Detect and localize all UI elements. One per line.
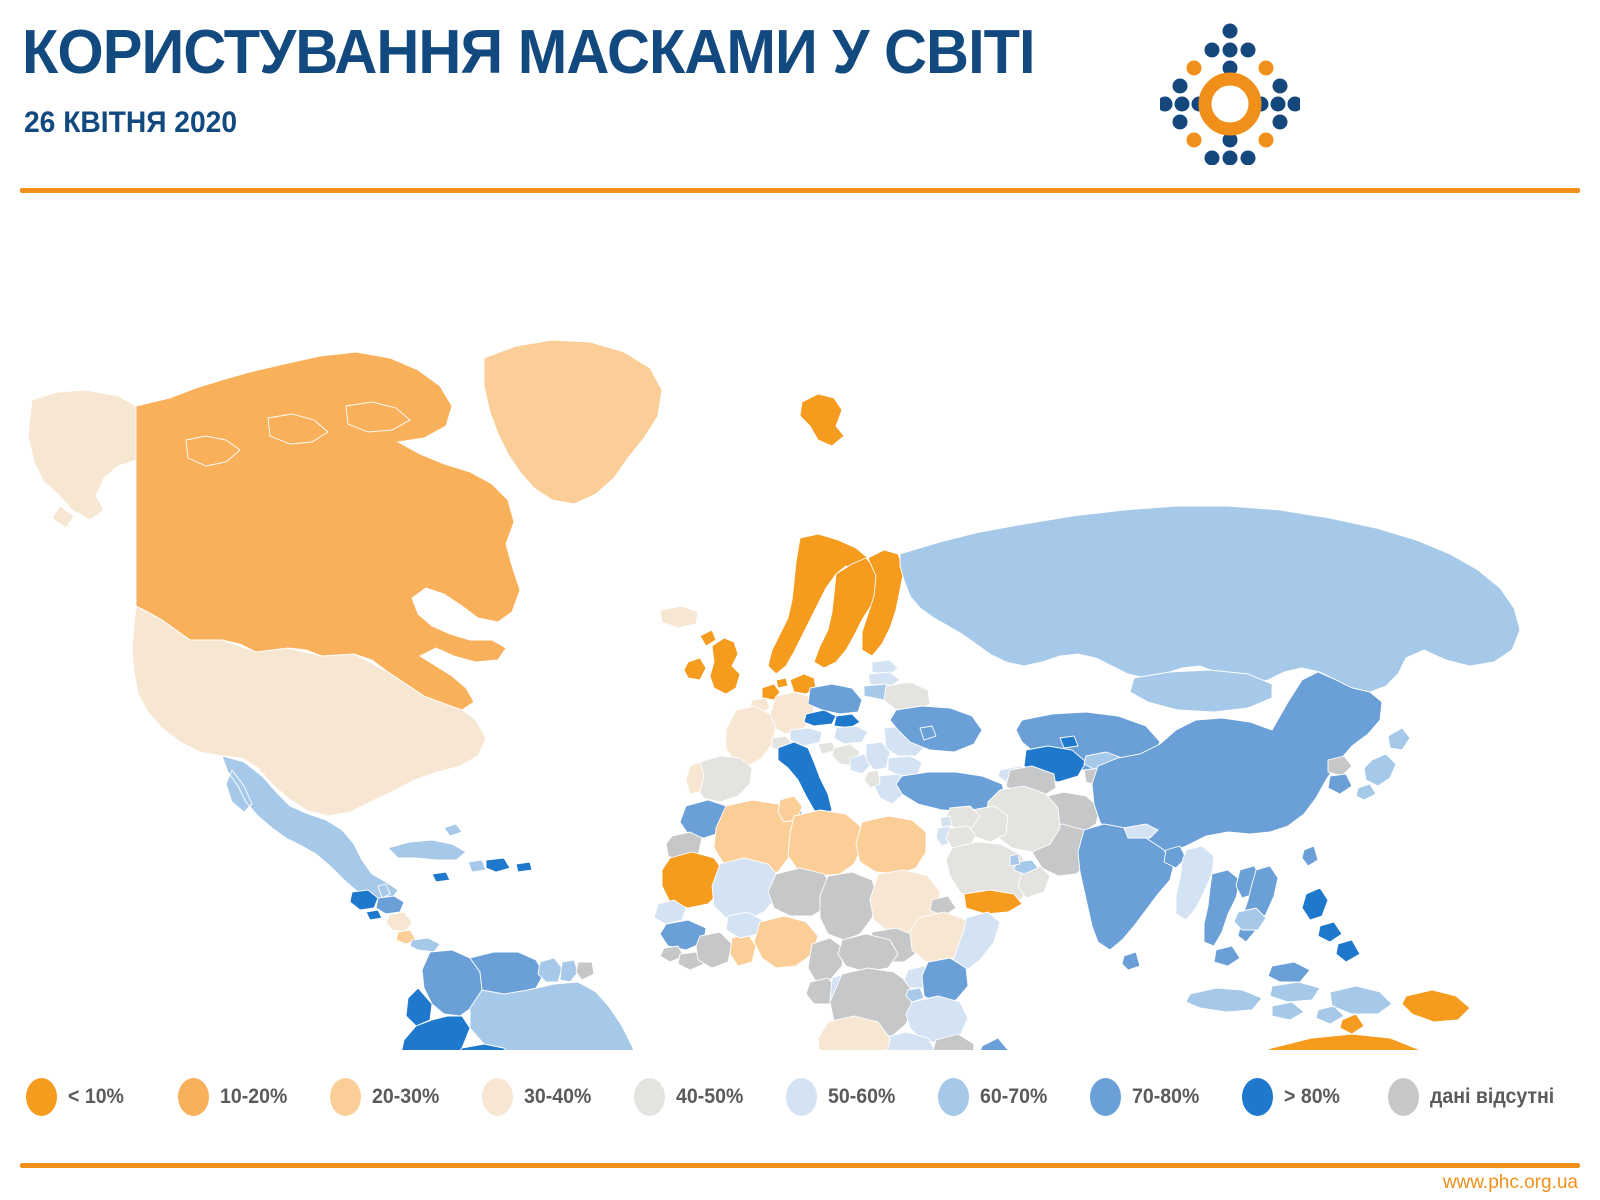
legend-swatch xyxy=(938,1078,969,1116)
country-united-kingdom[interactable] xyxy=(700,630,740,694)
legend-label: 60-70% xyxy=(980,1085,1047,1109)
country-alaska[interactable] xyxy=(28,390,136,528)
country-russia[interactable] xyxy=(900,506,1520,692)
country-svalbard[interactable] xyxy=(800,394,844,446)
footer-divider-rule xyxy=(20,1163,1580,1168)
legend-label: дані відсутні xyxy=(1430,1085,1554,1109)
footer-url[interactable]: www.phc.org.ua xyxy=(1443,1172,1578,1194)
legend-label: < 10% xyxy=(68,1085,124,1109)
phc-logo: ЦЕНТР ГРОМАДСЬКОГО ЗДОРОВ’Я xyxy=(1160,20,1590,170)
country-ghana[interactable] xyxy=(730,934,756,966)
country-kenya[interactable] xyxy=(922,958,968,1004)
legend-label: 40-50% xyxy=(676,1085,743,1109)
legend-item[interactable]: 50-60% xyxy=(786,1072,900,1122)
country-iceland[interactable] xyxy=(660,606,698,628)
world-map-svg xyxy=(0,210,1600,1050)
country-north-korea[interactable] xyxy=(1328,756,1352,776)
country-haiti[interactable] xyxy=(468,860,486,872)
country-papua-new-guinea[interactable] xyxy=(1402,990,1470,1022)
country-nigeria[interactable] xyxy=(754,916,818,968)
legend-label: 50-60% xyxy=(828,1085,895,1109)
country-albania[interactable] xyxy=(864,770,880,788)
country-nicaragua[interactable] xyxy=(386,912,412,932)
legend-label: 10-20% xyxy=(220,1085,287,1109)
legend-swatch xyxy=(1388,1078,1419,1116)
page-title: КОРИСТУВАННЯ МАСКАМИ У СВІТІ xyxy=(22,22,1035,84)
country-sri-lanka[interactable] xyxy=(1122,952,1140,970)
legend-swatch xyxy=(26,1078,57,1116)
country-japan[interactable] xyxy=(1356,728,1410,800)
legend-label: 20-30% xyxy=(372,1085,439,1109)
country-hungary[interactable] xyxy=(834,726,868,744)
legend-item[interactable]: 20-30% xyxy=(330,1072,444,1122)
legend-label: 30-40% xyxy=(524,1085,591,1109)
country-yemen[interactable] xyxy=(964,890,1022,914)
legend-swatch xyxy=(482,1078,513,1116)
header-divider-rule xyxy=(20,188,1580,193)
country-ireland[interactable] xyxy=(684,658,706,680)
country-indonesia[interactable] xyxy=(1186,982,1392,1024)
country-mongolia[interactable] xyxy=(1130,670,1272,712)
country-south-korea[interactable] xyxy=(1328,774,1352,794)
country-philippines[interactable] xyxy=(1302,888,1360,962)
logo-dot-diamond-icon xyxy=(1160,20,1300,165)
legend-item[interactable]: 30-40% xyxy=(482,1072,596,1122)
country-panama[interactable] xyxy=(410,938,440,952)
legend-item[interactable]: 40-50% xyxy=(634,1072,748,1122)
legend-item[interactable]: дані відсутні xyxy=(1388,1072,1564,1122)
country-poland[interactable] xyxy=(808,684,862,714)
country-honduras[interactable] xyxy=(376,896,404,914)
page-subtitle-date: 26 КВІТНЯ 2020 xyxy=(24,108,237,138)
legend-item[interactable]: 60-70% xyxy=(938,1072,1052,1122)
country-el-salvador[interactable] xyxy=(366,910,382,920)
country-cuba[interactable] xyxy=(388,840,466,860)
legend-swatch xyxy=(178,1078,209,1116)
country-dominican-republic[interactable] xyxy=(486,858,510,872)
country-libya[interactable] xyxy=(788,810,862,876)
legend-item[interactable]: 70-80% xyxy=(1090,1072,1204,1122)
legend-item[interactable]: > 80% xyxy=(1242,1072,1344,1122)
country-egypt[interactable] xyxy=(856,816,926,874)
map-legend: < 10%10-20%20-30%30-40%40-50%50-60%60-70… xyxy=(0,1072,1600,1130)
legend-swatch xyxy=(1090,1078,1121,1116)
legend-label: 70-80% xyxy=(1132,1085,1199,1109)
legend-label: > 80% xyxy=(1284,1085,1340,1109)
country-qatar[interactable] xyxy=(1010,854,1020,866)
country-greenland[interactable] xyxy=(484,340,662,504)
country-bulgaria[interactable] xyxy=(888,756,922,776)
country-french-guiana[interactable] xyxy=(576,962,594,980)
legend-swatch xyxy=(786,1078,817,1116)
country-chad[interactable] xyxy=(820,872,878,940)
legend-swatch xyxy=(1242,1078,1273,1116)
legend-swatch xyxy=(634,1078,665,1116)
country-jamaica[interactable] xyxy=(432,872,450,882)
country-thailand[interactable] xyxy=(1204,870,1240,946)
country-brazil[interactable] xyxy=(470,982,640,1050)
country-puerto-rico[interactable] xyxy=(516,862,532,872)
header: КОРИСТУВАННЯ МАСКАМИ У СВІТІ 26 КВІТНЯ 2… xyxy=(0,0,1600,190)
country-central-african-republic[interactable] xyxy=(838,934,898,972)
legend-swatch xyxy=(330,1078,361,1116)
country-malaysia[interactable] xyxy=(1214,946,1310,982)
country-bahamas[interactable] xyxy=(444,824,462,836)
legend-item[interactable]: < 10% xyxy=(26,1072,128,1122)
world-choropleth-map xyxy=(0,210,1600,1050)
country-taiwan[interactable] xyxy=(1302,846,1318,866)
legend-item[interactable]: 10-20% xyxy=(178,1072,292,1122)
country-suriname[interactable] xyxy=(560,960,578,982)
